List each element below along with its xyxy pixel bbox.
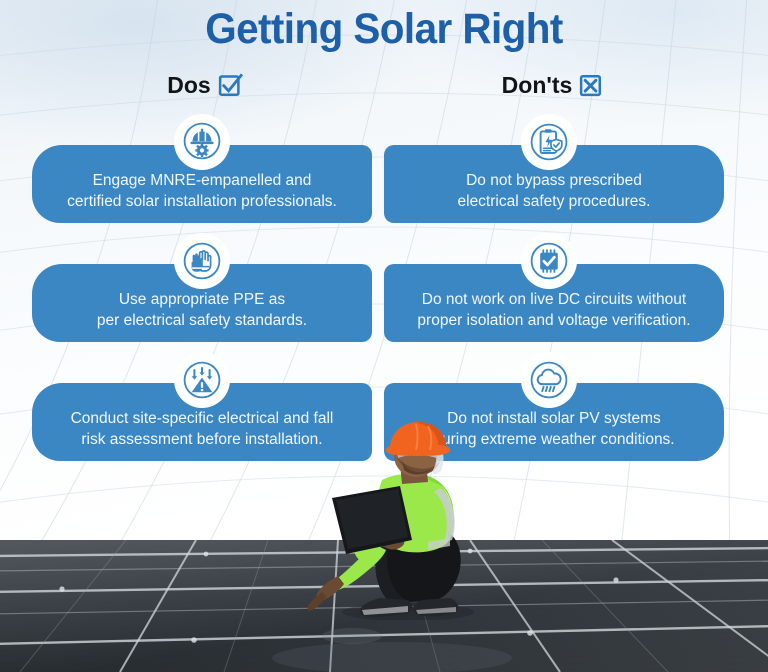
hard-hat-gear-icon xyxy=(174,114,230,170)
checkbox-check-icon xyxy=(218,73,243,98)
clipboard-safety-check-icon xyxy=(521,114,577,170)
circuit-chip-check-icon xyxy=(521,233,577,289)
infographic-root: Getting Solar Right Dos Don'ts Engage MN… xyxy=(0,0,768,672)
solar-technician-figure xyxy=(296,422,506,620)
fall-hazard-warning-icon xyxy=(174,352,230,408)
rooftop-solar-photo xyxy=(0,422,768,672)
rain-cloud-icon xyxy=(521,352,577,408)
dos-card-1-text: Engage MNRE-empanelled and certified sol… xyxy=(57,170,347,212)
column-label-donts: Don'ts xyxy=(502,72,573,99)
page-title: Getting Solar Right xyxy=(23,2,745,56)
donts-card-1-text: Do not bypass prescribed electrical safe… xyxy=(448,170,661,212)
dos-card-2-text: Use appropriate PPE as per electrical sa… xyxy=(87,289,317,331)
column-label-dos: Dos xyxy=(167,72,210,99)
column-header-dos: Dos xyxy=(40,68,370,102)
donts-card-2-text: Do not work on live DC circuits without … xyxy=(407,289,700,331)
safety-gloves-icon xyxy=(174,233,230,289)
checkbox-cross-icon xyxy=(579,73,604,98)
column-header-donts: Don'ts xyxy=(388,68,718,102)
